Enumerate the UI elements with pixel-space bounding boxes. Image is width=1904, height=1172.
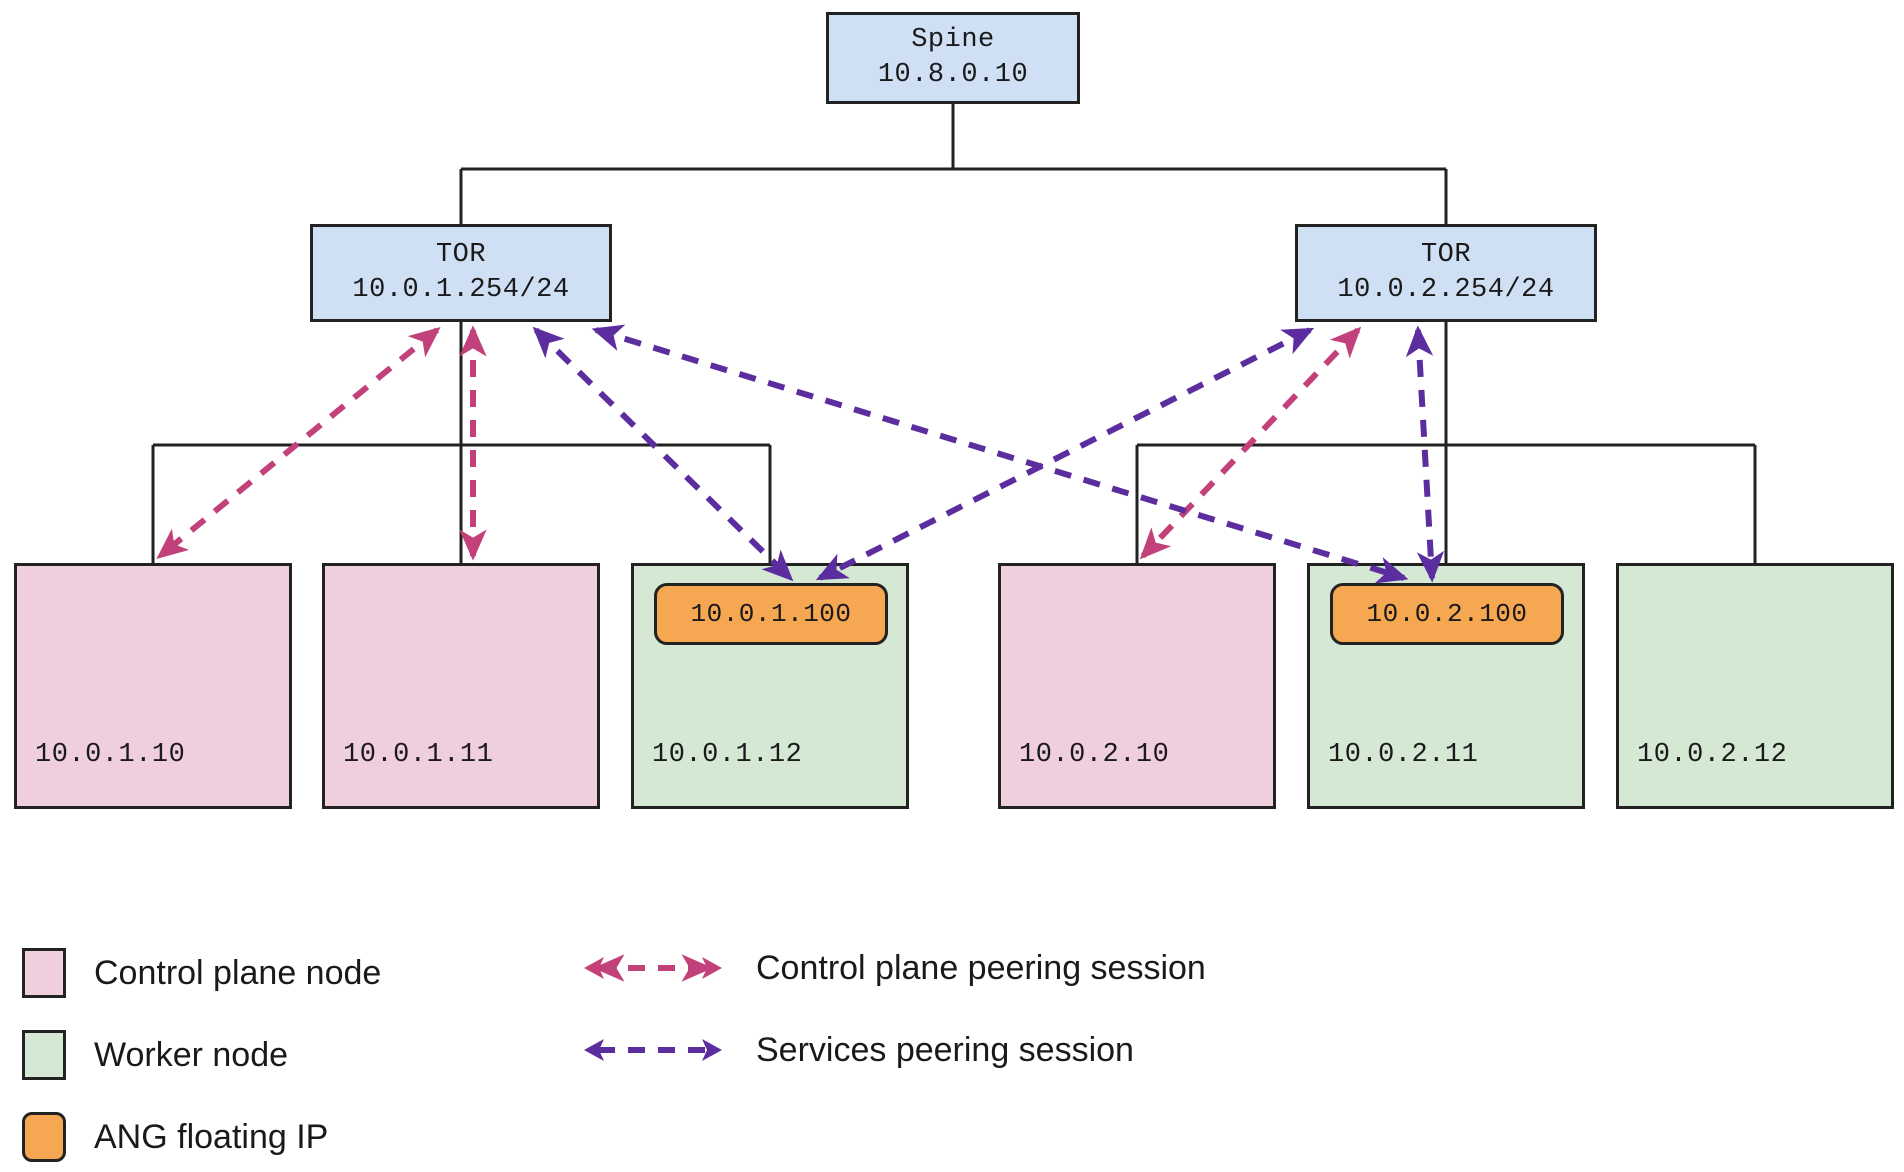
network-topology-diagram: Spine 10.8.0.10 TOR 10.0.1.254/24 TOR 10… — [0, 0, 1904, 1172]
legend-item-control-plane-node: Control plane node — [22, 948, 381, 998]
legend-label: Control plane node — [94, 954, 381, 993]
legend-swatch-ang-floating-ip — [22, 1112, 66, 1162]
legend-swatch-worker-node — [22, 1030, 66, 1080]
peering-sv-tor2-fip1 — [820, 330, 1310, 578]
legend-label: ANG floating IP — [94, 1118, 328, 1157]
peering-sv-tor1-fip1 — [536, 330, 790, 578]
legend: Control plane node Worker node ANG float… — [0, 930, 1904, 1172]
peering-cp-tor2-node4 — [1143, 330, 1358, 556]
peering-sv-tor1-fip2 — [596, 330, 1404, 578]
legend-label: Services peering session — [756, 1031, 1134, 1070]
peering-cp-tor1-node1 — [160, 330, 437, 556]
legend-swatch-control-plane-node — [22, 948, 66, 998]
legend-item-worker-node: Worker node — [22, 1030, 288, 1080]
legend-arrow-services-peering — [578, 1030, 728, 1070]
legend-label: Control plane peering session — [756, 949, 1206, 988]
legend-item-control-plane-peering: Control plane peering session — [578, 948, 1206, 988]
legend-arrow-control-plane-peering — [578, 948, 728, 988]
legend-item-services-peering: Services peering session — [578, 1030, 1134, 1070]
peering-sv-tor2-fip2 — [1418, 330, 1432, 578]
legend-label: Worker node — [94, 1036, 288, 1075]
legend-item-ang-floating-ip: ANG floating IP — [22, 1112, 328, 1162]
